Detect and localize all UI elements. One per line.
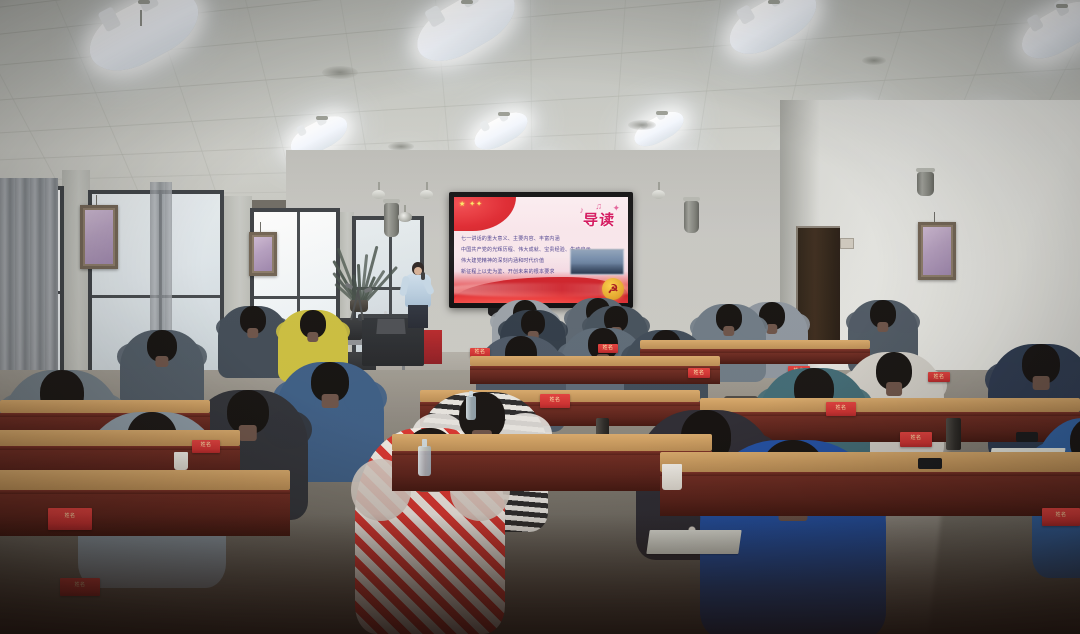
desk-nametent: 姓名	[192, 440, 220, 453]
led-display-surface: ★ ✦✦ ♪ ✦ ♫ 导读 七一讲话的重大意义、主要内容、丰富内涵 中国共产党的…	[454, 197, 628, 303]
desk-nametent: 姓名	[1042, 508, 1080, 526]
speaker-left	[384, 203, 399, 237]
camera-arm	[404, 205, 406, 212]
framed-picture-left-b	[249, 232, 277, 276]
nametent-text: 姓名	[826, 406, 856, 411]
person-neck	[155, 356, 168, 367]
spotlight-arm	[658, 182, 660, 190]
framed-picture-right	[918, 222, 956, 280]
lamp-hanger-plate	[138, 0, 150, 4]
desk-nametent: 姓名	[540, 394, 570, 408]
spotlight	[652, 190, 665, 199]
speaker-right	[684, 201, 699, 233]
ceiling-vent	[628, 120, 656, 130]
person-shoulder	[739, 316, 769, 339]
lamp-hanger-plate	[656, 111, 668, 115]
spotlight	[420, 190, 433, 199]
water-bottle	[466, 396, 476, 420]
picture-hook	[96, 195, 97, 205]
desk-top	[392, 434, 712, 451]
ceiling-vent	[322, 66, 358, 79]
party-emblem-icon: ☭	[602, 278, 624, 300]
lamp-hanger-rod	[140, 10, 142, 26]
person-shoulder	[985, 362, 1027, 397]
paper-cup	[174, 452, 188, 470]
speaker-side	[917, 172, 934, 196]
nametent-text: 姓名	[928, 375, 950, 380]
presenter-skirt	[408, 305, 428, 328]
desk-nametent: 姓名	[688, 368, 710, 378]
spotlight-arm	[378, 182, 380, 190]
picture-canvas	[254, 237, 272, 271]
person-shoulder	[264, 410, 312, 449]
lamp-hanger-plate	[498, 112, 510, 116]
desk-nametent: 姓名	[900, 432, 932, 447]
china-flag-graphic: ★ ✦✦	[454, 197, 516, 231]
desk-nametent: 姓名	[928, 372, 950, 382]
nametent-text: 姓名	[900, 436, 932, 441]
photo-scene: ★ ✦✦ ♪ ✦ ♫ 导读 七一讲话的重大意义、主要内容、丰富内涵 中国共产党的…	[0, 0, 1080, 634]
desk-row-5-far	[470, 356, 720, 384]
desk-front	[0, 494, 290, 536]
desk-row-1-right	[660, 452, 1080, 516]
person-neck	[766, 324, 777, 334]
person-neck	[723, 326, 734, 336]
nametent-text: 姓名	[470, 350, 490, 355]
laptop[interactable]	[376, 319, 405, 334]
picture-canvas	[923, 227, 951, 275]
person-neck	[307, 332, 318, 342]
spotlight-arm	[426, 182, 428, 190]
security-camera-dome	[398, 212, 412, 222]
person-shoulder	[173, 343, 207, 369]
speaker-bracket	[383, 199, 400, 203]
speaker-bracket	[916, 168, 935, 172]
slide-title: 导读	[582, 213, 615, 228]
person-neck	[239, 425, 257, 440]
person-neck	[1033, 376, 1050, 390]
mobile-phone	[918, 458, 942, 469]
led-display[interactable]: ★ ✦✦ ♪ ✦ ♫ 导读 七一讲话的重大意义、主要内容、丰富内涵 中国共产党的…	[449, 192, 633, 308]
lamp-hanger-plate	[768, 0, 780, 4]
handheld-microphone	[421, 272, 425, 280]
water-bottle	[418, 446, 431, 476]
speaker-bracket	[683, 197, 700, 201]
desk-front	[660, 476, 1080, 516]
lamp-hanger-plate	[1056, 4, 1068, 8]
spotlight	[372, 190, 385, 199]
window-transom	[254, 296, 336, 299]
desk-nametent: 姓名	[48, 508, 92, 530]
person-neck	[247, 328, 258, 338]
nametent-text: 姓名	[60, 583, 100, 588]
wall-socket	[840, 238, 854, 249]
desk-nametent: 姓名	[826, 402, 856, 416]
slide-line: 七一讲话的重大意义、主要内容、丰富内涵	[461, 237, 619, 243]
lamp-hanger-plate	[316, 116, 328, 120]
slide-photo	[570, 249, 624, 275]
desk-top	[0, 470, 290, 490]
desk-nametent: 姓名	[60, 578, 100, 596]
person-neck	[886, 382, 902, 395]
picture-hook	[260, 222, 261, 232]
document	[646, 530, 741, 554]
person-neck	[322, 394, 339, 408]
desk-top	[470, 356, 720, 366]
nametent-text: 姓名	[1042, 513, 1080, 518]
desk-top	[640, 340, 870, 349]
presenter-speaking	[404, 262, 432, 328]
desk-row-1-left	[0, 470, 290, 536]
thermos-flask	[946, 418, 961, 450]
nametent-text: 姓名	[598, 346, 618, 351]
podium-red-panel	[424, 330, 442, 364]
picture-hook	[934, 212, 935, 222]
person-neck	[877, 322, 888, 332]
person-shoulder	[344, 380, 387, 416]
nametent-text: 姓名	[540, 398, 570, 403]
paper-cup	[662, 464, 682, 490]
desk-top	[660, 452, 1080, 472]
desk-front	[470, 370, 720, 384]
music-note2-doodle-icon: ♫	[595, 201, 602, 211]
lamp-hanger-plate	[461, 0, 473, 4]
nametent-text: 姓名	[192, 443, 220, 448]
ceiling-vent	[862, 56, 886, 65]
desk-nametent: 姓名	[598, 344, 618, 353]
picture-canvas	[85, 210, 113, 264]
flag-stars-icon: ★ ✦✦	[459, 201, 483, 208]
framed-picture-left-a	[80, 205, 118, 269]
mobile-phone	[1016, 432, 1038, 442]
nametent-text: 姓名	[48, 514, 92, 519]
nametent-text: 姓名	[688, 371, 710, 376]
